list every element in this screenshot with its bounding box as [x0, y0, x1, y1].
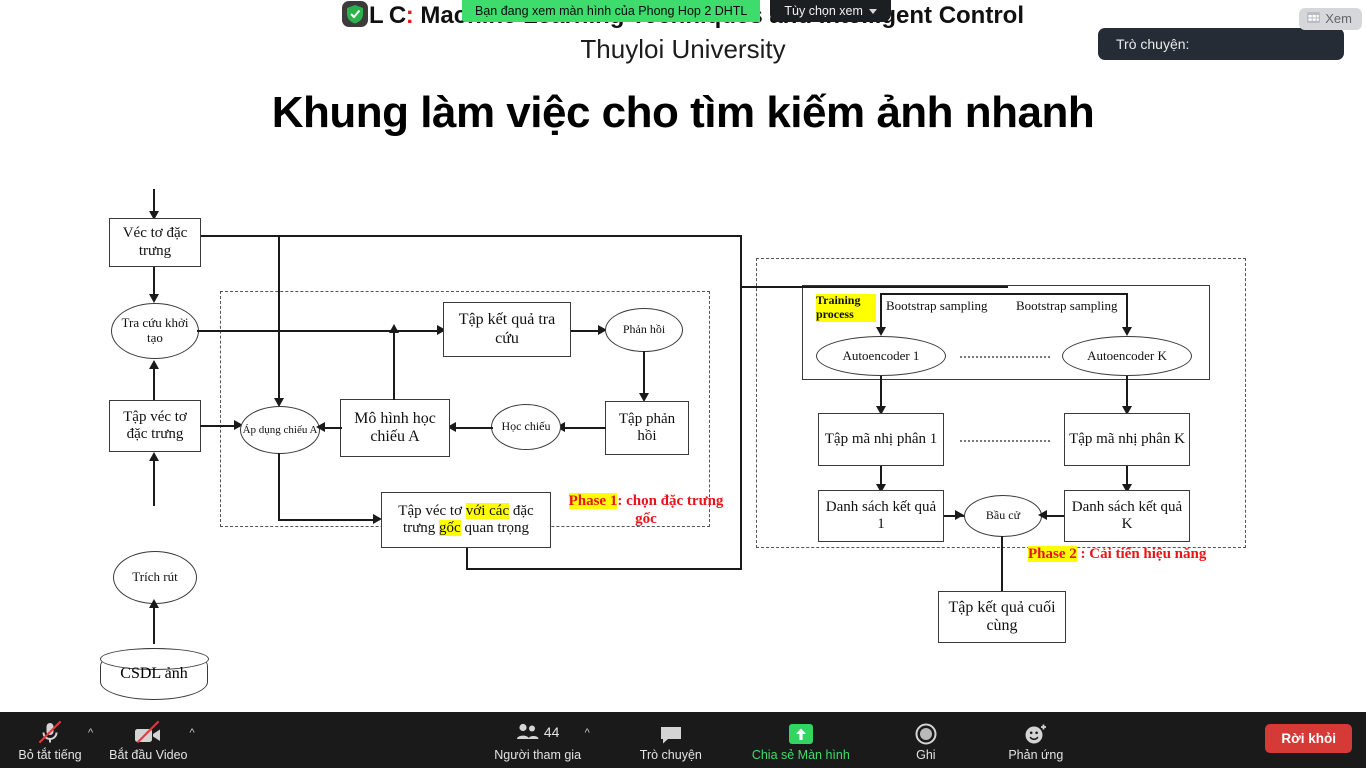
start-video-button[interactable]: Bắt đầu Video	[109, 712, 187, 768]
node-lookup-result-set-label: Tập kết quả tra cứu	[450, 311, 564, 348]
node-final-result: Tập kết quả cuối cùng	[938, 591, 1066, 643]
arrow-listk-to-vote	[1038, 510, 1047, 520]
node-binary-code-k: Tập mã nhị phân K	[1064, 413, 1190, 466]
connector-bootstrap-left	[880, 293, 882, 329]
connector-aek-to-codek	[1126, 376, 1128, 410]
arrow-model-to-apply	[316, 422, 325, 432]
chat-button[interactable]: Trò chuyện	[626, 712, 716, 768]
leave-meeting-button[interactable]: Rời khỏi	[1265, 724, 1352, 753]
node-binary-code-1-label: Tập mã nhị phân 1	[825, 431, 937, 448]
share-status-banner: Bạn đang xem màn hình của Phong Hop 2 DH…	[462, 0, 760, 22]
connector-learn-to-model	[451, 427, 493, 429]
share-screen-button[interactable]: Chia sẻ Màn hình	[746, 712, 856, 768]
meeting-toolbar: Bỏ tắt tiếng ^ Bắt đầu Video ^ 44 Người …	[0, 712, 1366, 768]
node-feedback: Phản hồi	[605, 308, 683, 352]
header-logo-text: L C	[369, 2, 406, 29]
node-result-list-k-label: Danh sách kết quả K	[1068, 499, 1186, 534]
node-initial-lookup-label: Tra cứu khởi tạo	[112, 316, 198, 346]
connector-db-to-extract	[153, 604, 155, 644]
microphone-muted-icon	[33, 719, 67, 745]
ivs-part3: quan trọng	[461, 520, 529, 536]
binary-code-ellipsis	[960, 440, 1050, 442]
connector-feedbackset-to-learn	[560, 427, 606, 429]
participants-icon: 44	[516, 719, 560, 745]
connector-ivs-down	[466, 548, 468, 570]
record-circle-icon	[915, 719, 937, 745]
bootstrap-sampling-2-label: Bootstrap sampling	[1016, 298, 1117, 314]
node-result-list-1: Danh sách kết quả 1	[818, 490, 944, 542]
grid-view-icon	[1307, 11, 1320, 26]
video-options-chevron-icon[interactable]: ^	[187, 727, 202, 753]
node-voting-label: Bầu cử	[986, 509, 1020, 523]
participants-group: 44 Người tham gia ^	[493, 712, 598, 768]
node-important-vector-set-text: Tập véc tơ với các đặc trưng gốc quan tr…	[388, 503, 544, 538]
node-apply-projection: Áp dụng chiếu A	[240, 406, 320, 454]
node-feature-vector-label: Véc tơ đặc trưng	[115, 225, 195, 260]
node-feature-vector: Véc tơ đặc trưng	[109, 218, 201, 267]
node-projection-model-label: Mô hình học chiếu A	[345, 410, 445, 447]
connector-fv-to-lookup	[153, 267, 155, 296]
connector-model-up-join	[393, 330, 441, 332]
training-process-label: Training process	[816, 294, 876, 322]
arrow-fvset-to-lookup	[149, 360, 159, 369]
node-feature-vector-set: Tập véc tơ đặc trưng	[109, 400, 201, 452]
record-label: Ghi	[916, 748, 935, 762]
header-colon: :	[406, 2, 414, 29]
node-autoencoder-k-label: Autoencoder K	[1087, 349, 1167, 364]
phase2-caption: Phase 2 : Cải tiến hiệu năng	[1028, 545, 1238, 563]
node-binary-code-1: Tập mã nhị phân 1	[818, 413, 944, 466]
node-image-database-label: CSDL ảnh	[120, 665, 187, 683]
node-voting: Bầu cử	[964, 495, 1042, 537]
node-result-list-k: Danh sách kết quả K	[1064, 490, 1190, 542]
node-learn-projection-label: Học chiếu	[502, 420, 551, 434]
reactions-button[interactable]: Phản ứng	[996, 712, 1076, 768]
node-extraction-label: Trích rút	[132, 570, 177, 585]
slide-title: Khung làm việc cho tìm kiếm ảnh nhanh	[0, 88, 1366, 138]
bootstrap-sampling-1-label: Bootstrap sampling	[886, 298, 987, 314]
node-important-vector-set: Tập véc tơ với các đặc trưng gốc quan tr…	[381, 492, 551, 548]
arrow-bootstrap-right	[1122, 327, 1132, 336]
share-screen-icon	[788, 719, 814, 745]
chat-label: Trò chuyện	[640, 748, 702, 762]
connector-model-to-apply	[324, 427, 342, 429]
phase1-caption: Phase 1: chọn đặc trưng gốc	[556, 492, 736, 528]
audio-options-chevron-icon[interactable]: ^	[86, 727, 101, 753]
participants-count: 44	[544, 724, 560, 740]
chevron-down-icon	[869, 9, 877, 14]
view-options-button[interactable]: Tùy chọn xem	[770, 0, 891, 22]
view-button-label: Xem	[1325, 11, 1352, 26]
node-projection-model: Mô hình học chiếu A	[340, 399, 450, 457]
connector-ivs-left	[466, 568, 742, 570]
leave-label: Rời khỏi	[1281, 731, 1336, 746]
node-feedback-set: Tập phản hồi	[605, 401, 689, 455]
connector-feedback-to-feedbackset	[643, 351, 645, 396]
video-control-group: Bắt đầu Video ^	[109, 712, 202, 768]
autoencoder-ellipsis	[960, 356, 1050, 358]
node-feedback-label: Phản hồi	[623, 323, 665, 337]
node-autoencoder-1: Autoencoder 1	[816, 336, 946, 376]
connector-ae1-to-code1	[880, 376, 882, 410]
phase1-desc: : chọn đặc trưng gốc	[617, 493, 723, 527]
participants-label: Người tham gia	[494, 748, 581, 762]
node-apply-projection-label: Áp dụng chiếu A	[243, 424, 318, 437]
arrow-into-feature-vector-line	[153, 189, 155, 213]
connector-to-phase2-down	[740, 235, 742, 288]
screen-share-topbar: Bạn đang xem màn hình của Phong Hop 2 DH…	[462, 0, 891, 22]
mute-label: Bỏ tắt tiếng	[18, 748, 81, 762]
participants-button[interactable]: 44 Người tham gia	[493, 712, 583, 768]
connector-bootstrap-right	[1126, 293, 1128, 329]
connector-apply-to-important	[278, 519, 378, 521]
reactions-label: Phản ứng	[1008, 748, 1063, 762]
node-lookup-result-set: Tập kết quả tra cứu	[443, 302, 571, 357]
phase2-tag: Phase 2	[1028, 546, 1077, 562]
phase2-desc: : Cải tiến hiệu năng	[1077, 546, 1207, 562]
node-image-database: CSDL ảnh	[100, 648, 208, 700]
arrow-extract-to-fvset	[149, 452, 159, 461]
chat-popup[interactable]: Trò chuyện:	[1098, 28, 1344, 60]
connector-extract-to-fvset	[153, 458, 155, 506]
node-initial-lookup: Tra cứu khởi tạo	[111, 303, 199, 359]
arrow-list1-to-vote	[955, 510, 964, 520]
view-options-label: Tùy chọn xem	[784, 4, 863, 18]
mute-button[interactable]: Bỏ tắt tiếng	[14, 712, 86, 768]
node-binary-code-k-label: Tập mã nhị phân K	[1069, 431, 1185, 448]
connector-fvset-to-lookup	[153, 366, 155, 402]
record-button[interactable]: Ghi	[886, 712, 966, 768]
ivs-highlight2: gốc	[439, 520, 461, 536]
ivs-highlight1: với các	[466, 503, 509, 519]
arrow-bootstrap-left	[876, 327, 886, 336]
node-feedback-set-label: Tập phản hồi	[610, 411, 684, 446]
connector-model-up	[393, 330, 395, 400]
participants-options-chevron-icon[interactable]: ^	[583, 727, 598, 753]
ivs-part1: Tập véc tơ	[398, 503, 466, 519]
chat-bubble-icon	[659, 719, 683, 745]
connector-bootstrap-split	[880, 293, 1128, 295]
connector-vote-to-final	[1001, 536, 1003, 597]
arrow-fv-to-lookup	[149, 294, 159, 303]
node-result-list-1-label: Danh sách kết quả 1	[822, 499, 940, 534]
view-button[interactable]: Xem	[1299, 8, 1362, 30]
framework-diagram: Véc tơ đặc trưng Tra cứu khởi tạo Tập vé…	[0, 170, 1366, 710]
connector-fv-right	[200, 235, 742, 237]
chat-popup-label: Trò chuyện:	[1116, 36, 1189, 52]
connector-apply-down	[278, 453, 280, 521]
connector-phase2-top	[740, 286, 1008, 288]
node-extraction: Trích rút	[113, 551, 197, 604]
node-autoencoder-k: Autoencoder K	[1062, 336, 1192, 376]
start-video-label: Bắt đầu Video	[109, 748, 187, 762]
connector-ivs-to-phase2	[740, 288, 742, 570]
node-feature-vector-set-label: Tập véc tơ đặc trưng	[114, 409, 196, 444]
share-screen-label: Chia sẻ Màn hình	[752, 748, 850, 762]
connector-top-to-apply	[278, 236, 280, 401]
verified-badge-icon	[342, 1, 368, 27]
node-learn-projection: Học chiếu	[491, 404, 561, 450]
audio-control-group: Bỏ tắt tiếng ^	[14, 712, 101, 768]
shared-screen-slide: L C: Machine Learning Techniques and Int…	[0, 0, 1366, 712]
node-autoencoder-1-label: Autoencoder 1	[843, 349, 920, 364]
reactions-smiley-icon	[1024, 719, 1048, 745]
node-final-result-label: Tập kết quả cuối cùng	[943, 599, 1061, 636]
camera-off-icon	[128, 719, 168, 745]
arrow-db-to-extract	[149, 599, 159, 608]
phase1-tag: Phase 1	[569, 493, 618, 509]
